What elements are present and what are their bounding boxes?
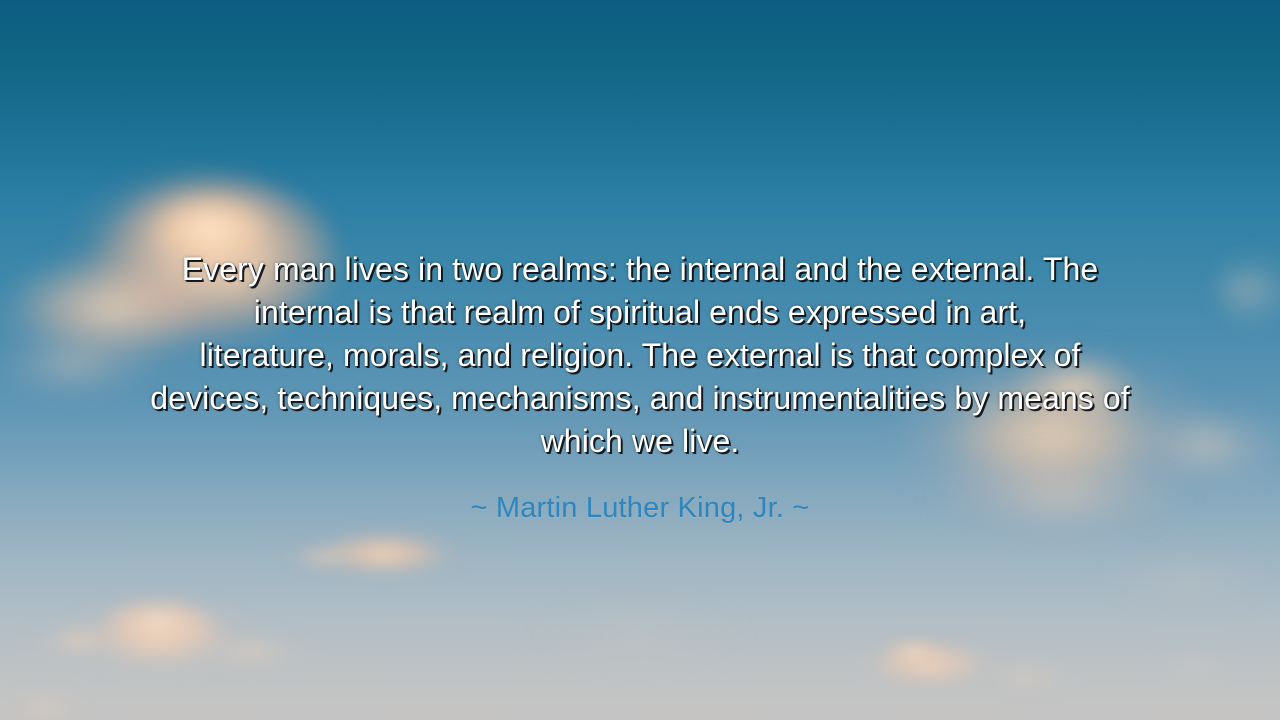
quote-attribution: ~ Martin Luther King, Jr. ~ — [60, 463, 1220, 527]
quote-image-canvas: Every man lives in two realms: the inter… — [0, 0, 1280, 720]
quote-text: Every man lives in two realms: the inter… — [60, 248, 1220, 463]
quote-block: Every man lives in two realms: the inter… — [0, 248, 1280, 527]
